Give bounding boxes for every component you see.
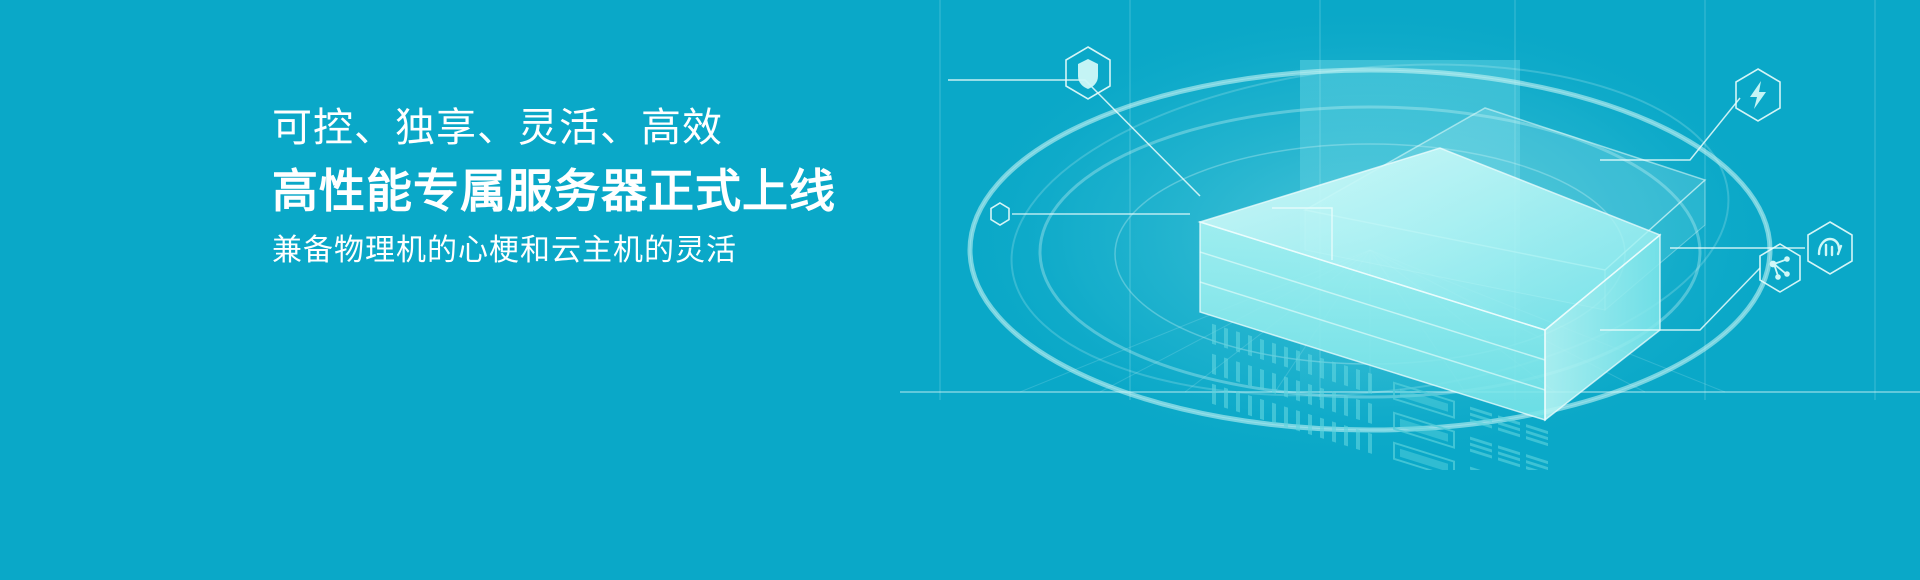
page-title: 高性能专属服务器正式上线	[272, 168, 836, 214]
headline-subtitle: 兼备物理机的心梗和云主机的灵活	[272, 236, 836, 266]
headline-eyebrow: 可控、独享、灵活、高效	[272, 108, 836, 148]
hexagon-frame	[1808, 222, 1852, 274]
hero-banner: 可控、独享、灵活、高效 高性能专属服务器正式上线 兼备物理机的心梗和云主机的灵活	[0, 0, 1920, 580]
hero-copy-block: 可控、独享、灵活、高效 高性能专属服务器正式上线 兼备物理机的心梗和云主机的灵活	[272, 108, 836, 266]
speed-meter-icon	[1819, 239, 1841, 255]
server-illustration	[900, 0, 1920, 470]
lightning-bolt-icon	[1750, 81, 1766, 109]
node-bolt[interactable]	[1736, 69, 1780, 121]
node-speed[interactable]	[1808, 222, 1852, 274]
